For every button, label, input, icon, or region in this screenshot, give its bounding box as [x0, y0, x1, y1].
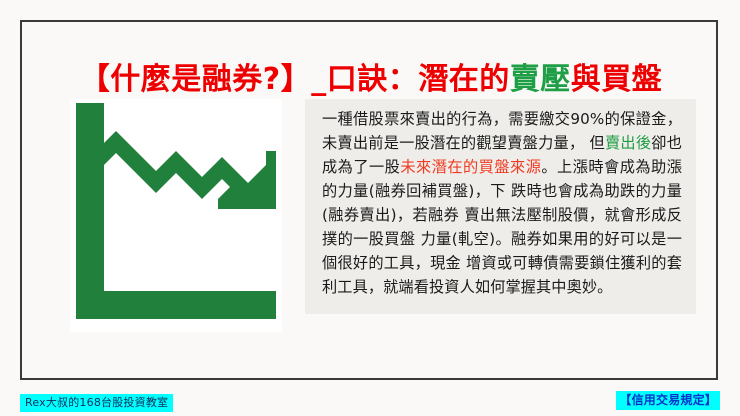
- title-segment-red-2: 與買盤: [571, 62, 663, 97]
- footer-link-credit-rules[interactable]: 【信用交易規定】: [616, 391, 720, 410]
- body-segment-red: 未來潛在的買盤來源: [400, 158, 541, 176]
- title-segment-red-1: 【什麼是融券?】_口訣：潛在的: [80, 62, 510, 97]
- description-panel: 一種借股票來賣出的行為，需要繳交90%的保證金，未賣出前是一股潛在的觀望賣盤力量…: [305, 99, 696, 314]
- description-text: 一種借股票來賣出的行為，需要繳交90%的保證金，未賣出前是一股潛在的觀望賣盤力量…: [322, 107, 682, 299]
- illustration-card: [70, 99, 282, 332]
- page-title: 【什麼是融券?】_口訣：潛在的賣壓與買盤: [44, 62, 698, 97]
- title-segment-green: 賣壓: [510, 62, 571, 97]
- declining-chart-icon: [70, 99, 282, 332]
- body-segment-green: 賣出後: [605, 134, 651, 152]
- slide-frame: 【什麼是融券?】_口訣：潛在的賣壓與買盤 一種借股票來賣出的行為，需要繳交90%…: [20, 20, 718, 380]
- body-segment-5: 。上漲時會成為助漲的力量(融券回補買盤)，下 跌時也會成為助跌的力量(融券賣出)…: [322, 158, 682, 296]
- footer-brand-label: Rex大叔的168台股投資教室: [20, 394, 173, 412]
